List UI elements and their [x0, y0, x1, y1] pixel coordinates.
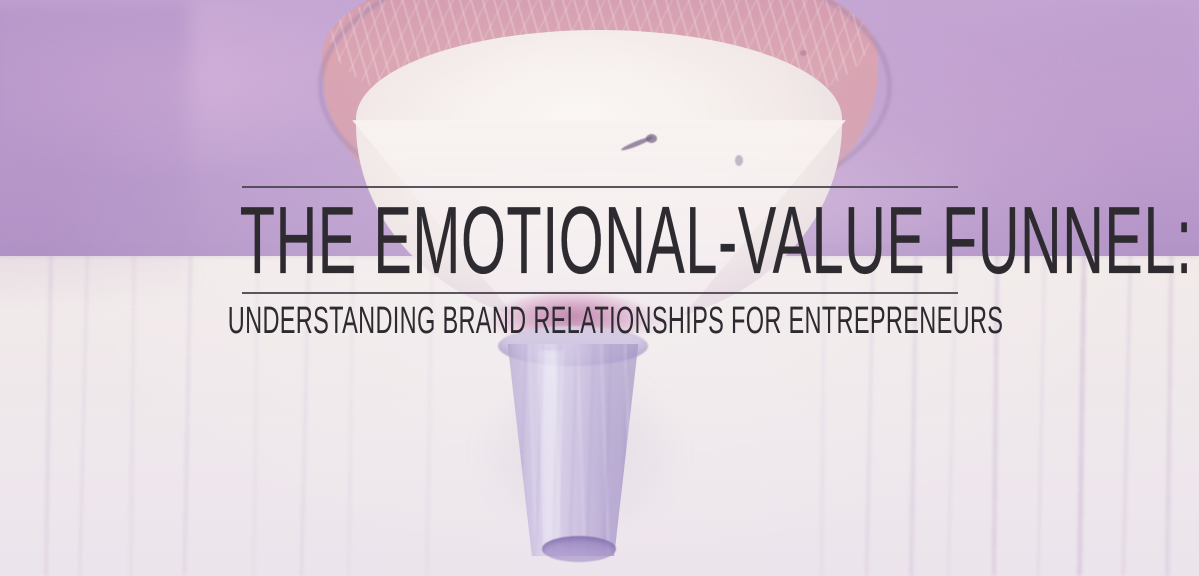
banner: THE EMOTIONAL-VALUE FUNNEL: UNDERSTANDIN…	[0, 0, 1199, 576]
title-block: THE EMOTIONAL-VALUE FUNNEL: UNDERSTANDIN…	[0, 186, 1199, 342]
page-subtitle: UNDERSTANDING BRAND RELATIONSHIPS FOR EN…	[228, 302, 971, 342]
divider-rule-middle	[242, 292, 958, 294]
page-title: THE EMOTIONAL-VALUE FUNNEL:	[240, 194, 959, 288]
